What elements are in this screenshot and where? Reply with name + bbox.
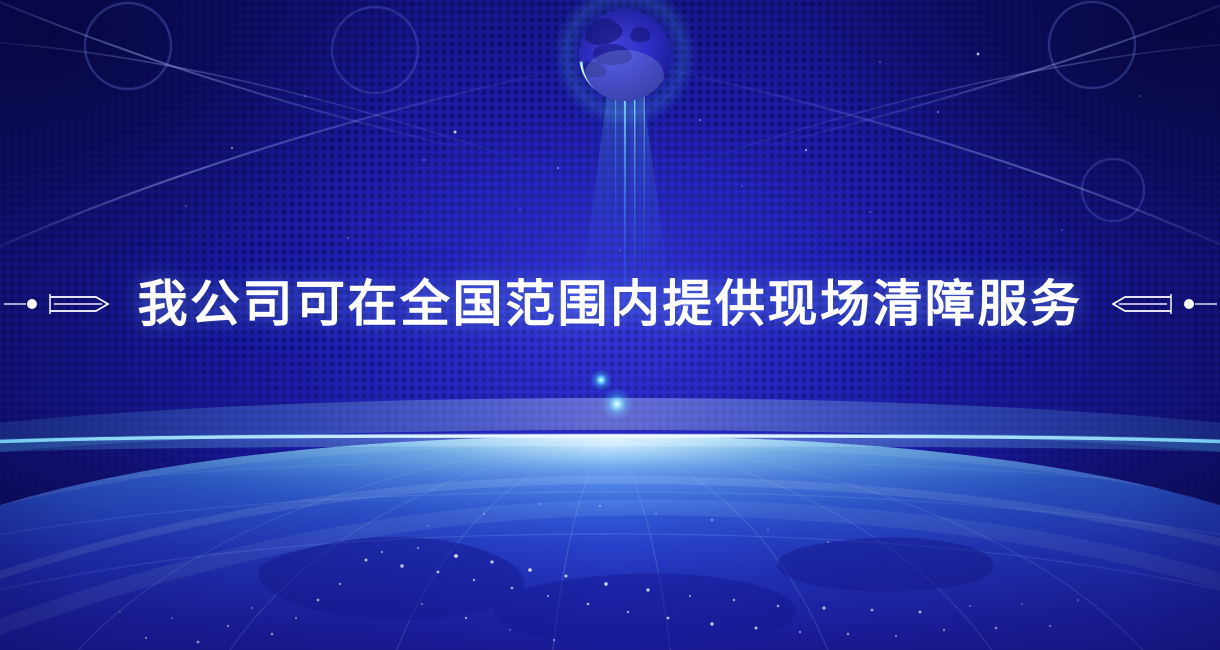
right-arrow-decoration: [1109, 287, 1217, 321]
promo-banner: 我公司可在全国范围内提供现场清障服务: [0, 0, 1220, 650]
earth-body: [0, 420, 1220, 650]
page-title: 我公司可在全国范围内提供现场清障服务: [138, 279, 1083, 329]
left-arrow-decoration: [4, 287, 112, 321]
headline-row: 我公司可在全国范围内提供现场清障服务: [0, 268, 1220, 340]
